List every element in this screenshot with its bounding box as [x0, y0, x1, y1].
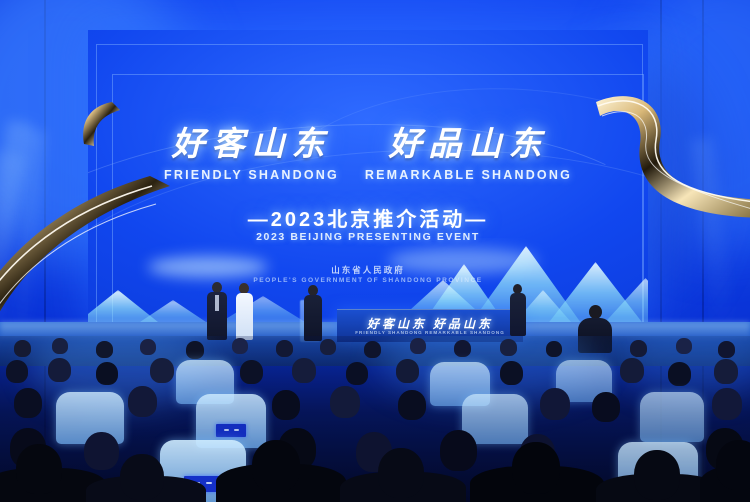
host-shirt: [215, 295, 219, 311]
audience-head: [252, 440, 300, 492]
man-head: [589, 305, 602, 319]
stage-far-right-figure: [508, 284, 528, 336]
organizer-cn: 山东省人民政府: [88, 264, 648, 276]
audience-head: [16, 444, 62, 494]
audience-area: [0, 336, 750, 502]
title-cn-remarkable: 好品山东: [365, 128, 572, 163]
audience-head: [14, 388, 42, 418]
audience-head: [592, 392, 620, 422]
audience-head: [96, 341, 113, 358]
title-block-right: 好品山东 REMARKABLE SHANDONG: [365, 128, 572, 182]
audience-head: [398, 390, 426, 420]
audience-head: [410, 338, 426, 354]
audience-head: [6, 360, 28, 383]
audience-head: [716, 440, 750, 490]
audience-head: [378, 448, 424, 498]
audience-head: [128, 386, 157, 417]
audience-head: [346, 362, 368, 385]
audience-head: [676, 338, 692, 354]
audience-head: [96, 362, 118, 385]
organizer-en: PEOPLE'S GOVERNMENT OF SHANDONG PROVINCE: [88, 277, 648, 284]
audience-head: [48, 358, 71, 382]
audience-head: [712, 388, 742, 420]
audience-head: [630, 340, 647, 357]
speaker-body: [304, 295, 322, 341]
screen-title-row: 好客山东 FRIENDLY SHANDONG 好品山东 REMARKABLE S…: [88, 128, 648, 182]
podium-banner-en: FRIENDLY SHANDONG REMARKABLE SHANDONG: [337, 330, 523, 335]
audience-head: [140, 339, 156, 355]
chair-back: [640, 392, 704, 442]
male-host: [205, 282, 229, 340]
female-host: [233, 283, 255, 340]
audience-head: [440, 430, 477, 471]
host-dress: [236, 293, 253, 340]
conference-stage-photo: 好客山东 FRIENDLY SHANDONG 好品山东 REMARKABLE S…: [0, 0, 750, 502]
audience-head: [120, 454, 164, 500]
seat-number-tag: [216, 424, 246, 437]
audience-head: [500, 361, 523, 385]
title-en-friendly: FRIENDLY SHANDONG: [164, 168, 339, 182]
audience-head: [186, 341, 204, 359]
audience-head: [396, 359, 419, 383]
subtitle-cn: —2023北京推介活动—: [88, 203, 648, 232]
audience-head: [512, 442, 560, 494]
title-cn-friendly: 好客山东: [164, 128, 339, 163]
audience-head: [718, 341, 735, 358]
stage-right-speaker: [302, 285, 324, 341]
audience-head: [668, 362, 691, 386]
audience-head: [232, 338, 248, 354]
audience-head: [84, 432, 119, 470]
figure-body: [510, 293, 526, 336]
audience-head: [240, 360, 263, 384]
audience-head: [620, 358, 644, 383]
audience-head: [150, 358, 174, 383]
audience-head: [276, 340, 293, 357]
audience-head: [546, 341, 562, 357]
audience-head: [52, 338, 68, 354]
audience-head: [330, 386, 360, 418]
audience-head: [320, 339, 336, 355]
subtitle-en: 2023 BEIJING PRESENTING EVENT: [88, 231, 648, 243]
audience-head: [364, 341, 381, 358]
audience-head: [500, 339, 517, 356]
audience-head: [540, 388, 570, 420]
audience-head: [714, 359, 738, 384]
audience-head: [454, 340, 471, 357]
title-block-left: 好客山东 FRIENDLY SHANDONG: [164, 128, 339, 182]
audience-head: [14, 340, 31, 357]
audience-head: [272, 390, 300, 420]
title-en-remarkable: REMARKABLE SHANDONG: [365, 168, 572, 182]
audience-head: [634, 450, 680, 500]
audience-head: [292, 358, 316, 383]
